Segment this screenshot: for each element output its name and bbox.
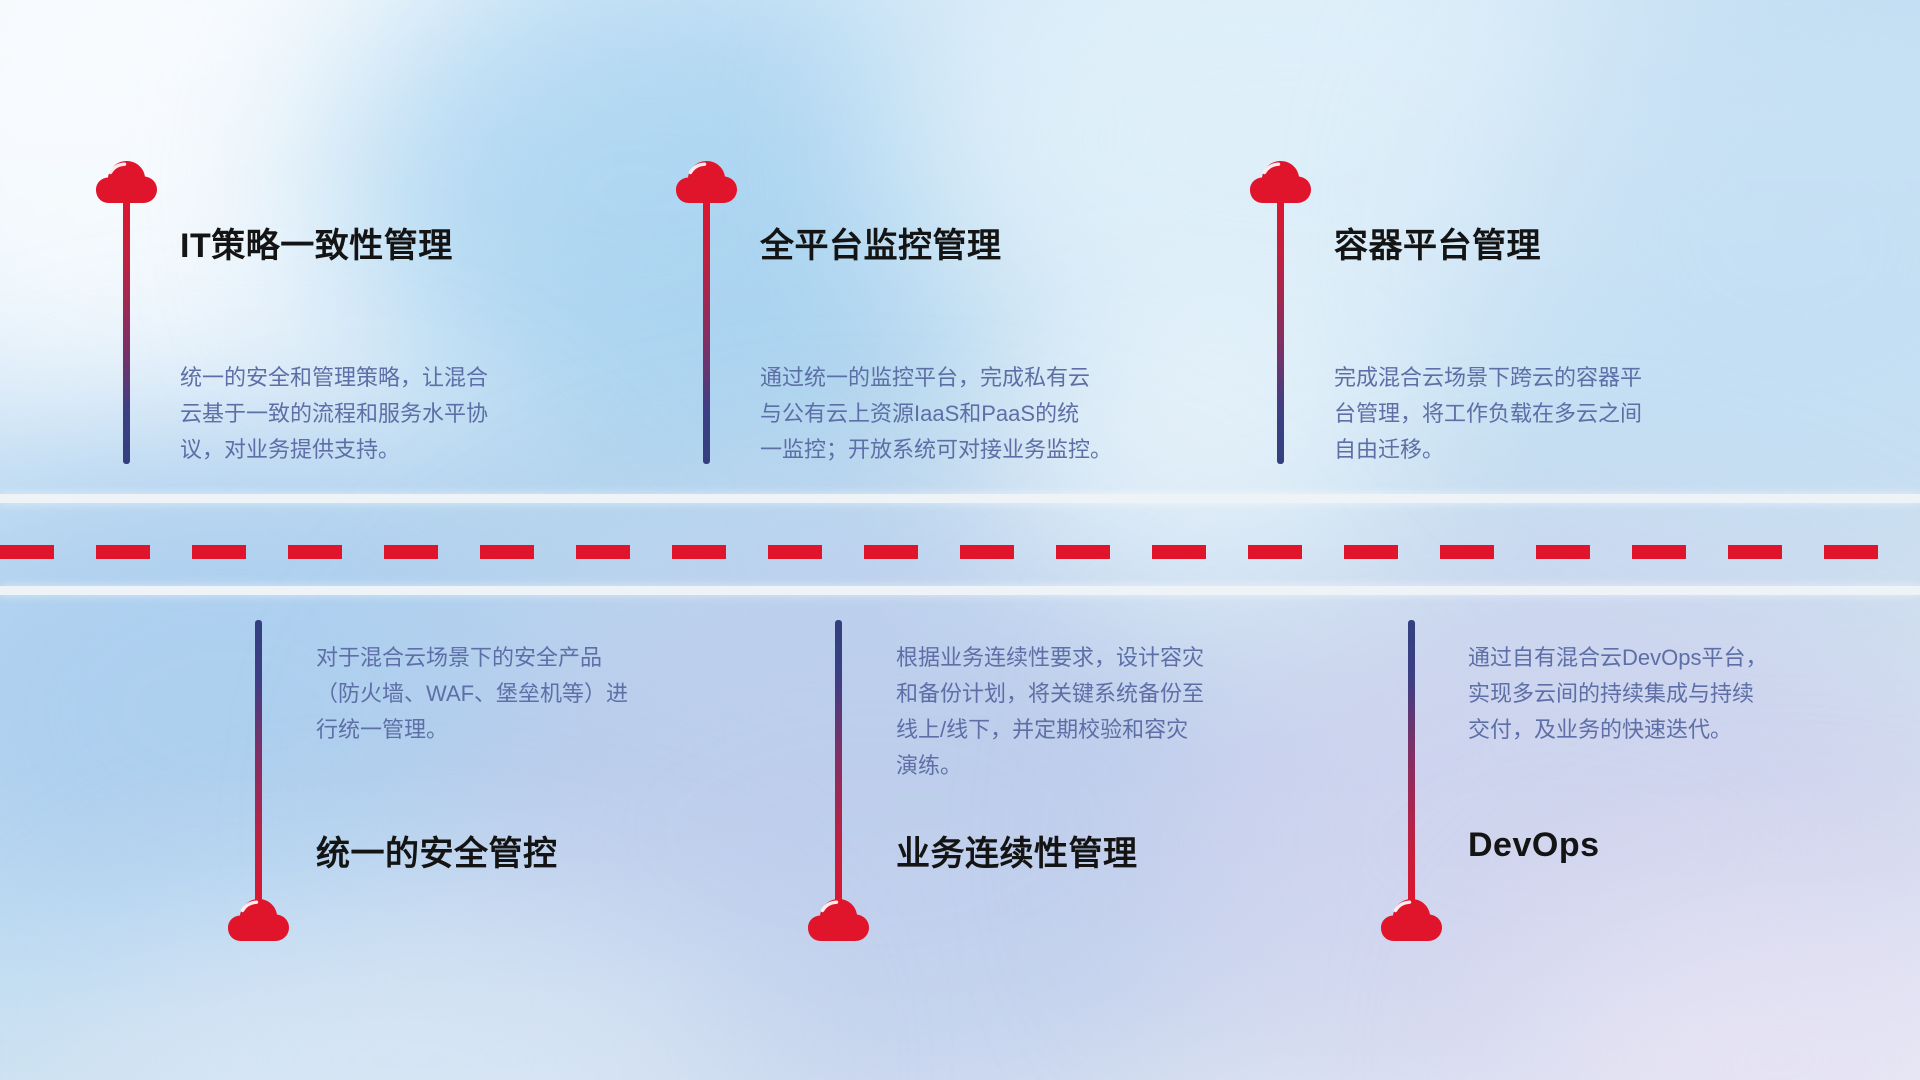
bottom-item-body: 对于混合云场景下的安全产品 （防火墙、WAF、堡垒机等）进 行统一管理。 [316,640,661,748]
top-item-body: 统一的安全和管理策略，让混合 云基于一致的流程和服务水平协 议，对业务提供支持。 [180,360,525,468]
cloud-icon [1381,898,1443,942]
connector-stem [703,200,710,464]
cloud-icon [96,160,158,204]
cloud-icon [808,898,870,942]
cloud-icon [676,160,738,204]
infographic-canvas: IT策略一致性管理 统一的安全和管理策略，让混合 云基于一致的流程和服务水平协 … [0,0,1920,1080]
connector-stem [255,620,262,910]
top-item-heading: 容器平台管理 [1334,218,1541,267]
bottom-item-body: 通过自有混合云DevOps平台， 实现多云间的持续集成与持续 交付，及业务的快速… [1468,640,1813,748]
cloud-icon [228,898,290,942]
road-edge-bottom [0,586,1920,595]
road-center-dashed-line [0,545,1920,559]
top-item-heading: IT策略一致性管理 [180,218,453,267]
top-item-body: 完成混合云场景下跨云的容器平 台管理，将工作负载在多云之间 自由迁移。 [1334,360,1679,468]
connector-stem [835,620,842,910]
road-edge-top [0,494,1920,503]
bottom-item-heading: DevOps [1468,826,1600,865]
cloud-icon [1250,160,1312,204]
bottom-item-heading: 业务连续性管理 [896,826,1138,875]
top-item-body: 通过统一的监控平台，完成私有云 与公有云上资源IaaS和PaaS的统 一监控；开… [760,360,1120,468]
top-item-heading: 全平台监控管理 [760,218,1002,267]
bottom-item-heading: 统一的安全管控 [316,826,558,875]
connector-stem [1408,620,1415,910]
connector-stem [123,200,130,464]
bottom-item-body: 根据业务连续性要求，设计容灾 和备份计划，将关键系统备份至 线上/线下，并定期校… [896,640,1241,784]
connector-stem [1277,200,1284,464]
